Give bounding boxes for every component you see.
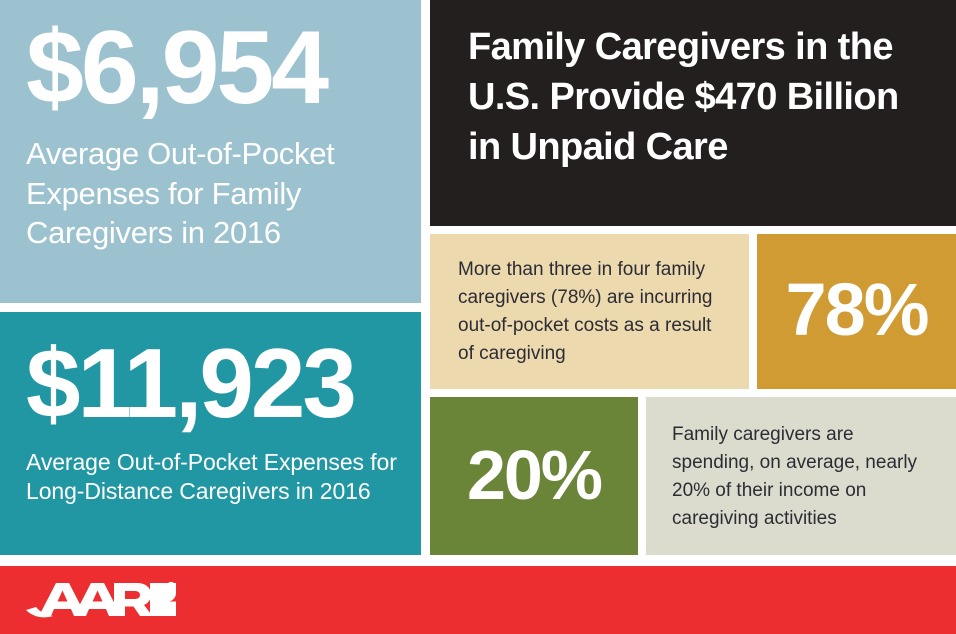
page-title: Family Caregivers in the U.S. Provide $4… bbox=[468, 22, 932, 172]
infographic-canvas: $6,954 Average Out-of-Pocket Expenses fo… bbox=[0, 0, 956, 634]
stat-caption-long-distance: Average Out-of-Pocket Expenses for Long-… bbox=[26, 448, 399, 507]
note-text-incurring-costs: More than three in four family caregiver… bbox=[458, 256, 729, 368]
note-card-pct-income: Family caregivers are spending, on avera… bbox=[646, 397, 956, 555]
aarp-logo: R bbox=[26, 578, 176, 622]
footer-bar: R bbox=[0, 566, 956, 634]
stat-value-pct-incurring-costs: 78% bbox=[785, 273, 927, 347]
stat-value-pct-income: 20% bbox=[467, 440, 601, 510]
stat-card-long-distance: $11,923 Average Out-of-Pocket Expenses f… bbox=[0, 312, 421, 555]
stat-card-out-of-pocket: $6,954 Average Out-of-Pocket Expenses fo… bbox=[0, 0, 421, 303]
stat-card-pct-income: 20% bbox=[430, 397, 638, 555]
stat-card-pct-incurring-costs: 78% bbox=[757, 234, 956, 389]
stat-caption-out-of-pocket: Average Out-of-Pocket Expenses for Famil… bbox=[26, 134, 399, 253]
headline-card: Family Caregivers in the U.S. Provide $4… bbox=[430, 0, 956, 226]
stat-value-long-distance: $11,923 bbox=[26, 334, 399, 432]
note-card-incurring-costs: More than three in four family caregiver… bbox=[430, 234, 749, 389]
note-text-pct-income: Family caregivers are spending, on avera… bbox=[672, 421, 940, 533]
stat-value-out-of-pocket: $6,954 bbox=[26, 16, 399, 120]
